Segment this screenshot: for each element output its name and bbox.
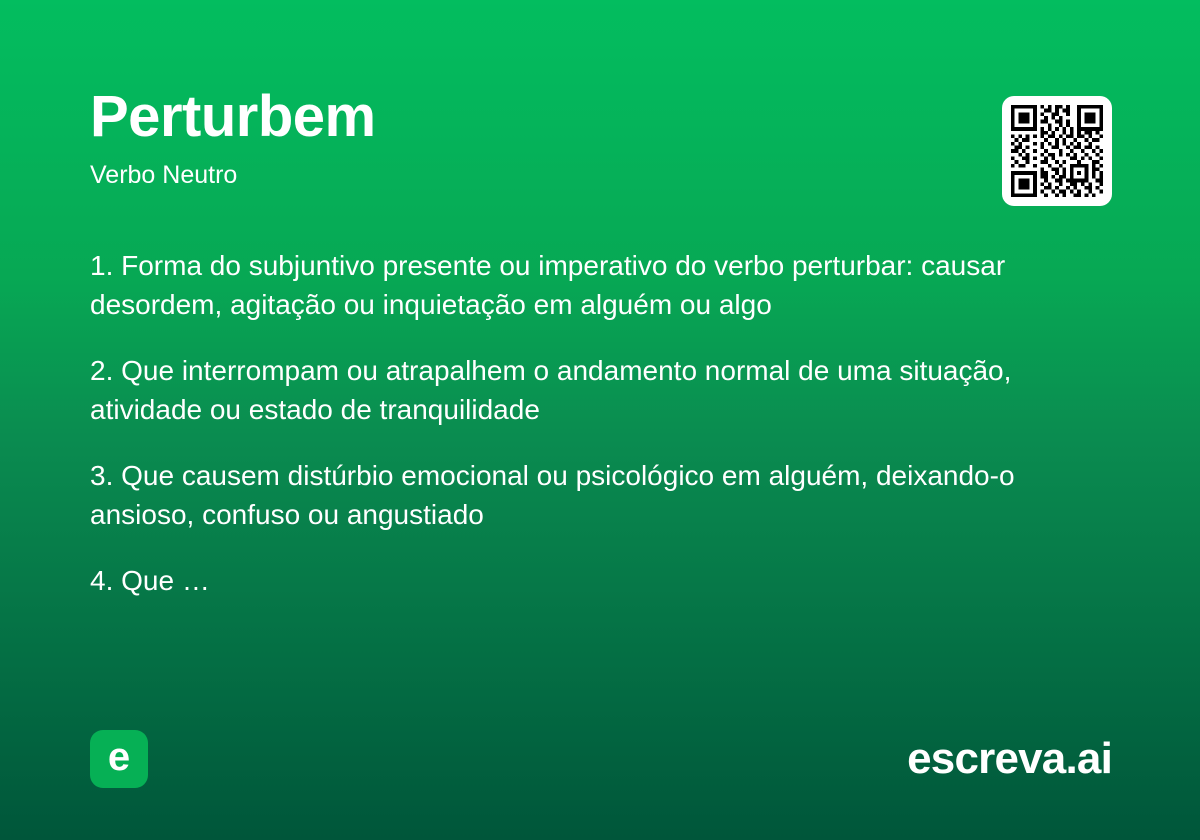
card-footer: e escreva.ai <box>90 730 1112 788</box>
brand-wordmark: escreva.ai <box>907 735 1112 783</box>
dictionary-card: Perturbem Verbo Neutro <box>0 0 1200 840</box>
qr-code[interactable] <box>1002 96 1112 206</box>
card-header: Perturbem Verbo Neutro <box>90 84 1112 190</box>
logo-letter: e <box>108 737 130 777</box>
list-item: 3. Que causem distúrbio emocional ou psi… <box>90 457 1112 534</box>
list-item: 4. Que … <box>90 562 1112 601</box>
list-item: 1. Forma do subjuntivo presente ou imper… <box>90 247 1112 324</box>
qr-code-icon <box>1011 105 1103 197</box>
definition-list: 1. Forma do subjuntivo presente ou imper… <box>90 247 1112 601</box>
page-title: Perturbem <box>90 84 1112 150</box>
part-of-speech-label: Verbo Neutro <box>90 150 1112 190</box>
escreva-logo-icon: e <box>90 730 148 788</box>
list-item: 2. Que interrompam ou atrapalhem o andam… <box>90 352 1112 429</box>
